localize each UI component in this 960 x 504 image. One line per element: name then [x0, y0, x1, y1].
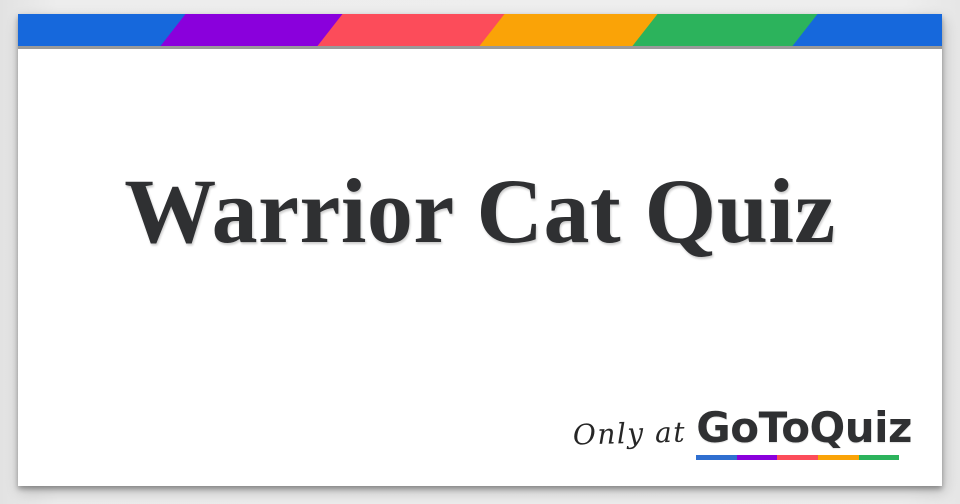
title-area: Warrior Cat Quiz — [18, 46, 942, 376]
branding-underline-seg-green — [859, 455, 900, 460]
stripe-blue-end — [789, 14, 942, 46]
branding-logo[interactable]: GoToQuiz — [696, 407, 912, 460]
branding-underline-seg-blue — [696, 455, 737, 460]
branding-prefix: Only at — [573, 416, 687, 462]
page-title: Warrior Cat Quiz — [124, 163, 836, 260]
branding-underline-seg-orange — [818, 455, 859, 460]
quiz-card: Warrior Cat Quiz Only at GoToQuiz — [18, 14, 942, 486]
branding-underline-seg-purple — [737, 455, 778, 460]
branding[interactable]: Only at GoToQuiz — [573, 407, 912, 460]
branding-underline-seg-red — [777, 455, 818, 460]
rainbow-banner — [18, 14, 942, 46]
branding-name: GoToQuiz — [696, 407, 912, 449]
branding-underline — [696, 455, 899, 460]
